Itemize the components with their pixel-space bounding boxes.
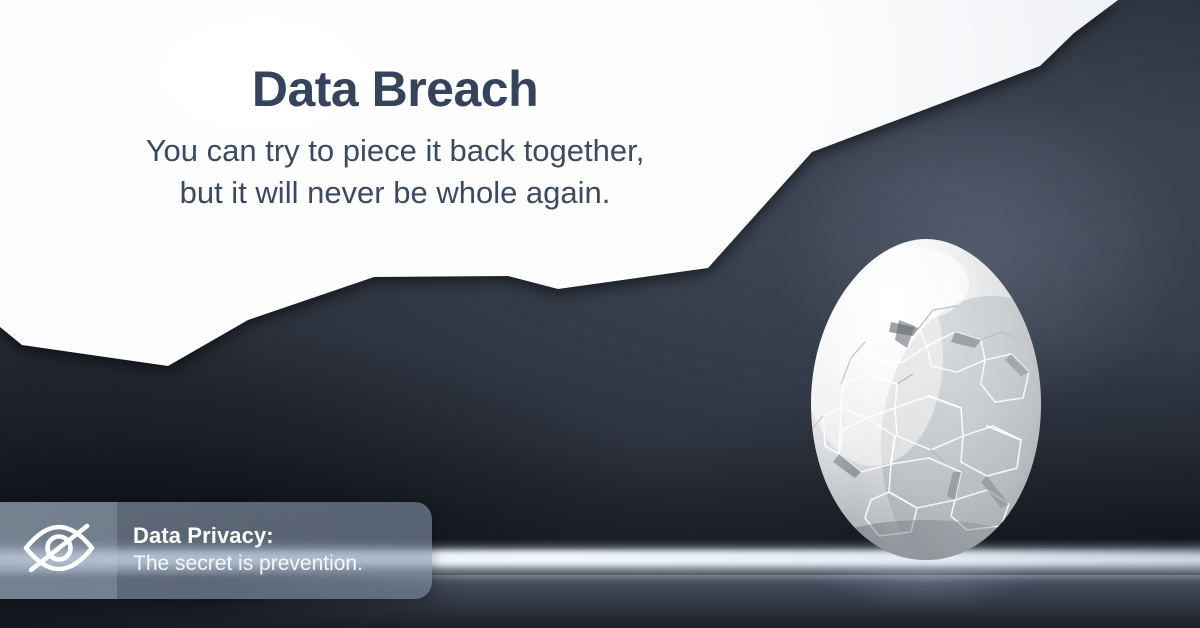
data-privacy-badge[interactable]: Data Privacy: The secret is prevention. <box>0 502 432 599</box>
badge-subtitle: The secret is prevention. <box>133 551 432 578</box>
eye-off-icon <box>22 522 96 579</box>
badge-icon-cell <box>0 502 117 599</box>
badge-title: Data Privacy: <box>133 523 432 550</box>
badge-text-group: Data Privacy: The secret is prevention. <box>117 502 432 599</box>
poster-canvas: Data Breach You can try to piece it back… <box>0 0 1200 628</box>
